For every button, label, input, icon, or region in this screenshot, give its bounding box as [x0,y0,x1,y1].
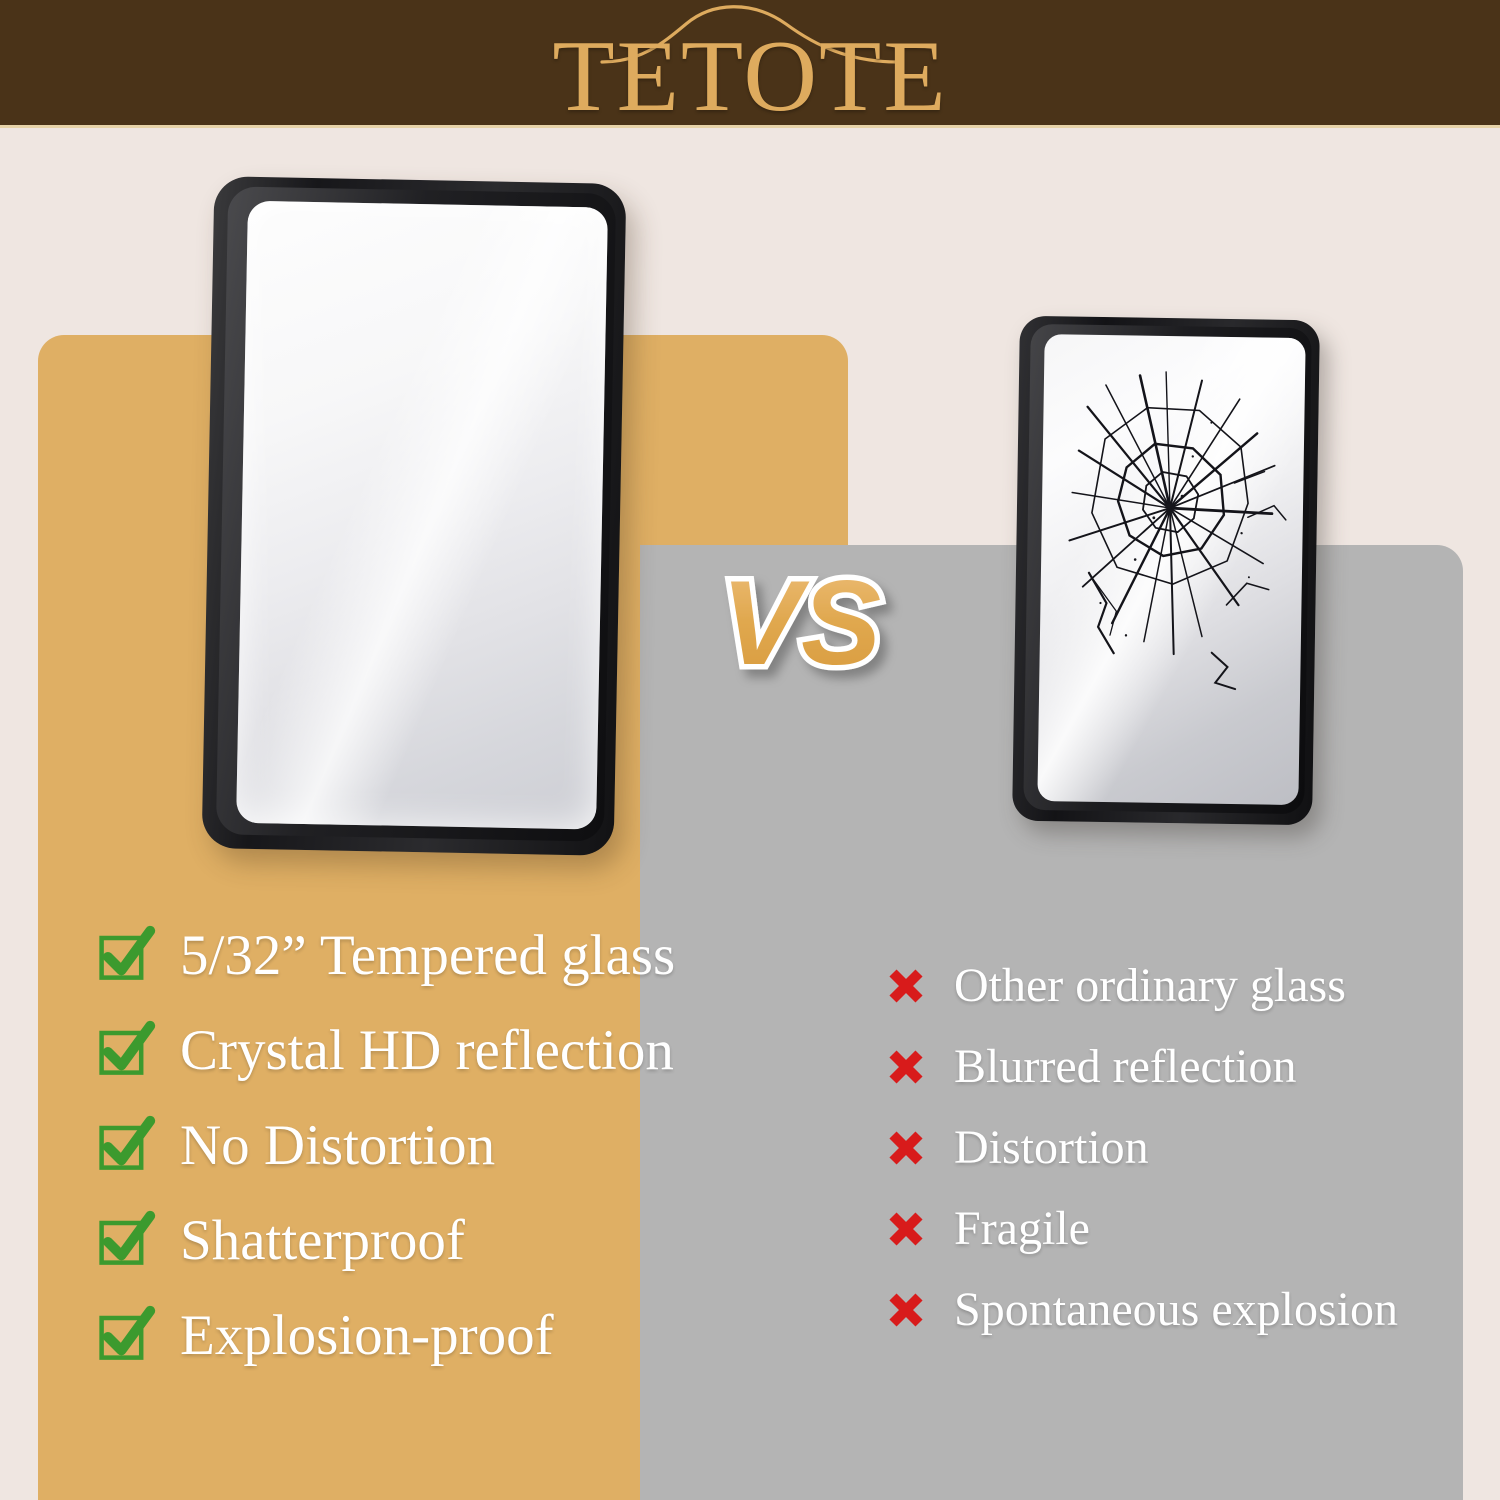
green-checkbox-icon [98,1214,152,1268]
list-item: 5/32” Tempered glass [98,908,818,1003]
list-item-label: Distortion [954,1122,1149,1174]
list-item: Distortion [886,1107,1466,1188]
vs-label: VS [721,556,881,690]
red-x-icon [886,1290,926,1330]
red-x-icon [886,966,926,1006]
list-item: Shatterproof [98,1193,818,1288]
pros-feature-list: 5/32” Tempered glass Crystal HD reflecti… [98,908,818,1383]
list-item-label: Other ordinary glass [954,960,1346,1012]
list-item: Blurred reflection [886,1026,1466,1107]
product-comparison-graphic: TETOTE [0,0,1500,1500]
brand-logo: TETOTE [0,0,1500,125]
list-item: Explosion-proof [98,1288,818,1383]
list-item: Crystal HD reflection [98,1003,818,1098]
green-checkbox-icon [98,1119,152,1173]
list-item-label: Explosion-proof [180,1306,554,1366]
green-checkbox-icon [98,929,152,983]
green-checkbox-icon [98,1024,152,1078]
green-checkbox-icon [98,1309,152,1363]
list-item-label: 5/32” Tempered glass [180,926,675,986]
brand-name: TETOTE [0,26,1500,128]
list-item-label: Spontaneous explosion [954,1284,1398,1336]
red-x-icon [886,1128,926,1168]
list-item: No Distortion [98,1098,818,1193]
list-item: Fragile [886,1188,1466,1269]
list-item: Other ordinary glass [886,945,1466,1026]
list-item-label: Fragile [954,1203,1090,1255]
list-item: Spontaneous explosion [886,1269,1466,1350]
list-item-label: Crystal HD reflection [180,1021,674,1081]
cons-feature-list: Other ordinary glass Blurred reflection … [886,945,1466,1350]
red-x-icon [886,1209,926,1249]
glass-sheen [236,201,608,830]
list-item-label: Shatterproof [180,1211,465,1271]
mirror-glass [1037,334,1305,805]
intact-framed-mirror-image [202,176,627,856]
crack-pattern-icon [1037,334,1305,805]
mirror-glass [236,201,608,830]
list-item-label: No Distortion [180,1116,495,1176]
cracked-framed-mirror-image [1012,316,1320,826]
list-item-label: Blurred reflection [954,1041,1297,1093]
vs-badge: VS [686,560,916,690]
red-x-icon [886,1047,926,1087]
